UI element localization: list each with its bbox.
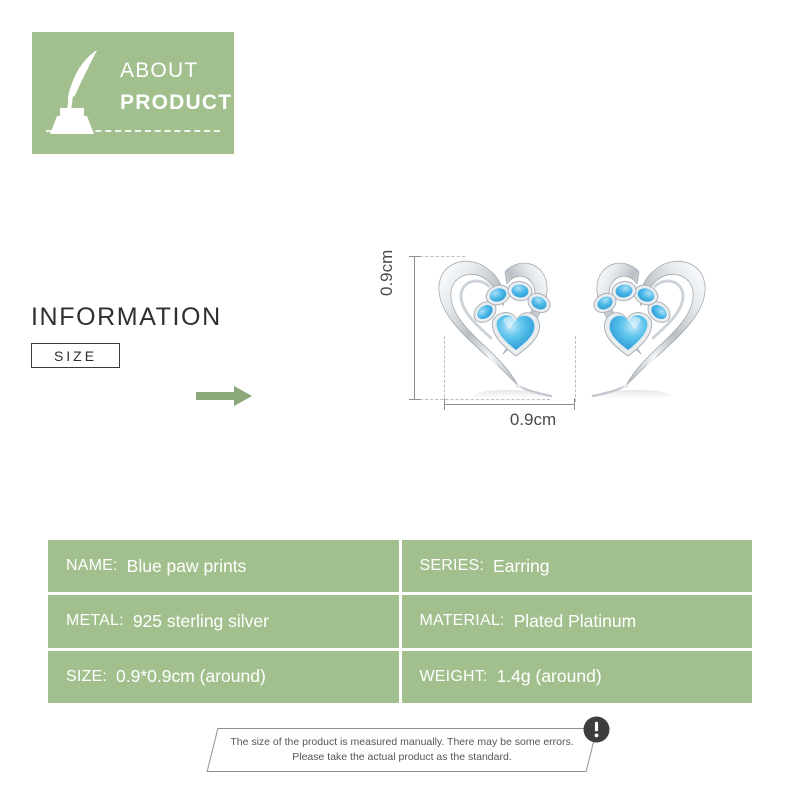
spec-cell-material: MATERIAL: Plated Platinum xyxy=(402,595,753,647)
spec-key-metal: METAL: xyxy=(66,612,124,630)
product-dimension-figure: 0.9cm 0.9cm xyxy=(385,248,755,438)
spec-key-weight: WEIGHT: xyxy=(420,668,488,686)
measurement-disclaimer: The size of the product is measured manu… xyxy=(212,728,592,772)
product-spec-table: NAME: Blue paw prints SERIES: Earring ME… xyxy=(48,540,752,703)
about-badge-line2: PRODUCT xyxy=(120,92,232,113)
spec-cell-name: NAME: Blue paw prints xyxy=(48,540,399,592)
disclaimer-text: The size of the product is measured manu… xyxy=(212,728,592,772)
spec-value-size: 0.9*0.9cm (around) xyxy=(116,666,266,687)
spec-cell-weight: WEIGHT: 1.4g (around) xyxy=(402,651,753,703)
about-badge-line1: ABOUT xyxy=(120,60,232,81)
information-heading: INFORMATION xyxy=(31,303,222,332)
spec-value-name: Blue paw prints xyxy=(127,556,247,577)
quill-in-inkwell-icon xyxy=(50,46,112,136)
disclaimer-line1: The size of the product is measured manu… xyxy=(230,735,573,750)
about-product-badge: ABOUT PRODUCT xyxy=(32,32,234,154)
spec-value-series: Earring xyxy=(493,556,549,577)
badge-dashed-divider xyxy=(46,130,220,132)
size-label-text: SIZE xyxy=(54,348,97,364)
spec-value-material: Plated Platinum xyxy=(514,611,637,632)
spec-value-weight: 1.4g (around) xyxy=(497,666,602,687)
spec-cell-series: SERIES: Earring xyxy=(402,540,753,592)
spec-key-name: NAME: xyxy=(66,557,118,575)
spec-cell-metal: METAL: 925 sterling silver xyxy=(48,595,399,647)
spec-cell-size: SIZE: 0.9*0.9cm (around) xyxy=(48,651,399,703)
spec-key-series: SERIES: xyxy=(420,557,485,575)
about-badge-text: ABOUT PRODUCT xyxy=(120,60,232,113)
size-label-box: SIZE xyxy=(31,343,120,368)
spec-key-material: MATERIAL: xyxy=(420,612,505,630)
spec-key-size: SIZE: xyxy=(66,668,107,686)
disclaimer-line2: Please take the actual product as the st… xyxy=(292,750,511,765)
exclamation-circle-icon xyxy=(583,716,610,743)
earring-pair-image xyxy=(385,248,755,438)
spec-value-metal: 925 sterling silver xyxy=(133,611,269,632)
arrow-right-icon xyxy=(196,386,252,406)
